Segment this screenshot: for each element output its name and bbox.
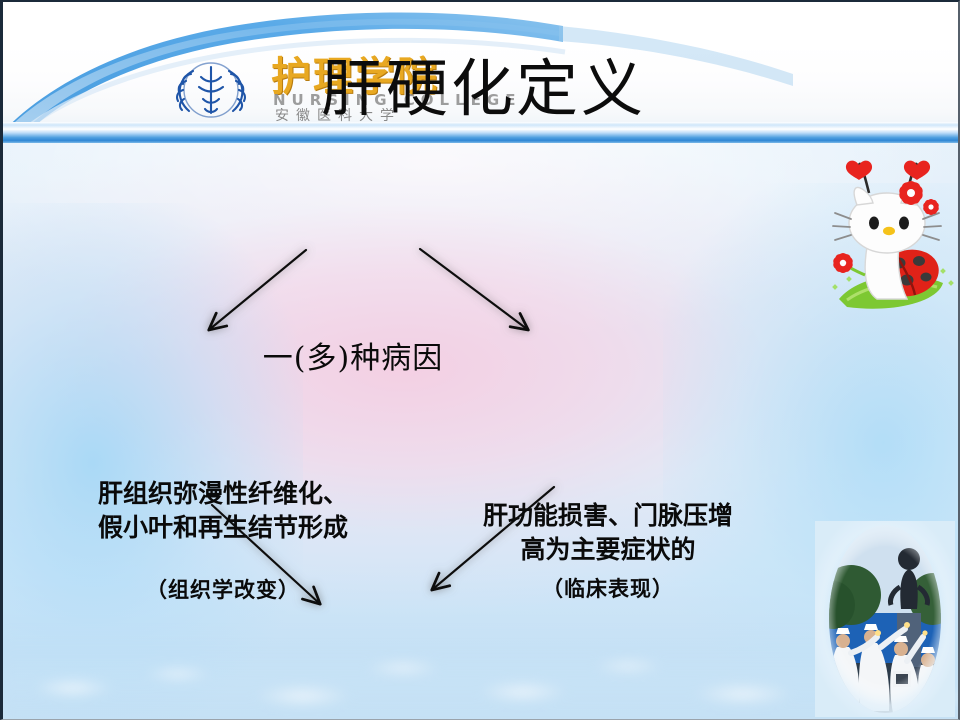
- presentation-slide: 护理学院 NURSING COLLEGE 安徽医科大学 肝硬化定义: [0, 0, 960, 720]
- university-emblem-icon: [163, 59, 259, 121]
- diagram-node-histology: 肝组织弥漫性纤维化、 假小叶和再生结节形成: [53, 477, 393, 545]
- slide-title: 肝硬化定义: [321, 50, 646, 128]
- slide-body: 一(多)种病因 肝组织弥漫性纤维化、 假小叶和再生结节形成 （组织学改变） 肝功…: [3, 143, 960, 720]
- diagram-node-clinical-note: （临床表现）: [458, 575, 758, 603]
- edge-cause-to-right: [420, 249, 527, 329]
- red-flower-held: [831, 251, 854, 275]
- nurses-candle-ceremony-image: [815, 521, 955, 717]
- diagram-node-histology-note: （组织学改变）: [63, 576, 383, 604]
- diagram-node-clinical: 肝功能损害、门脉压增 高为主要症状的: [443, 499, 773, 567]
- slide-header: 护理学院 NURSING COLLEGE 安徽医科大学 肝硬化定义: [3, 2, 960, 143]
- edge-cause-to-left: [210, 250, 306, 329]
- diagram-node-cause: 一(多)种病因: [203, 339, 503, 379]
- hello-kitty-ladybug-image: [821, 149, 957, 313]
